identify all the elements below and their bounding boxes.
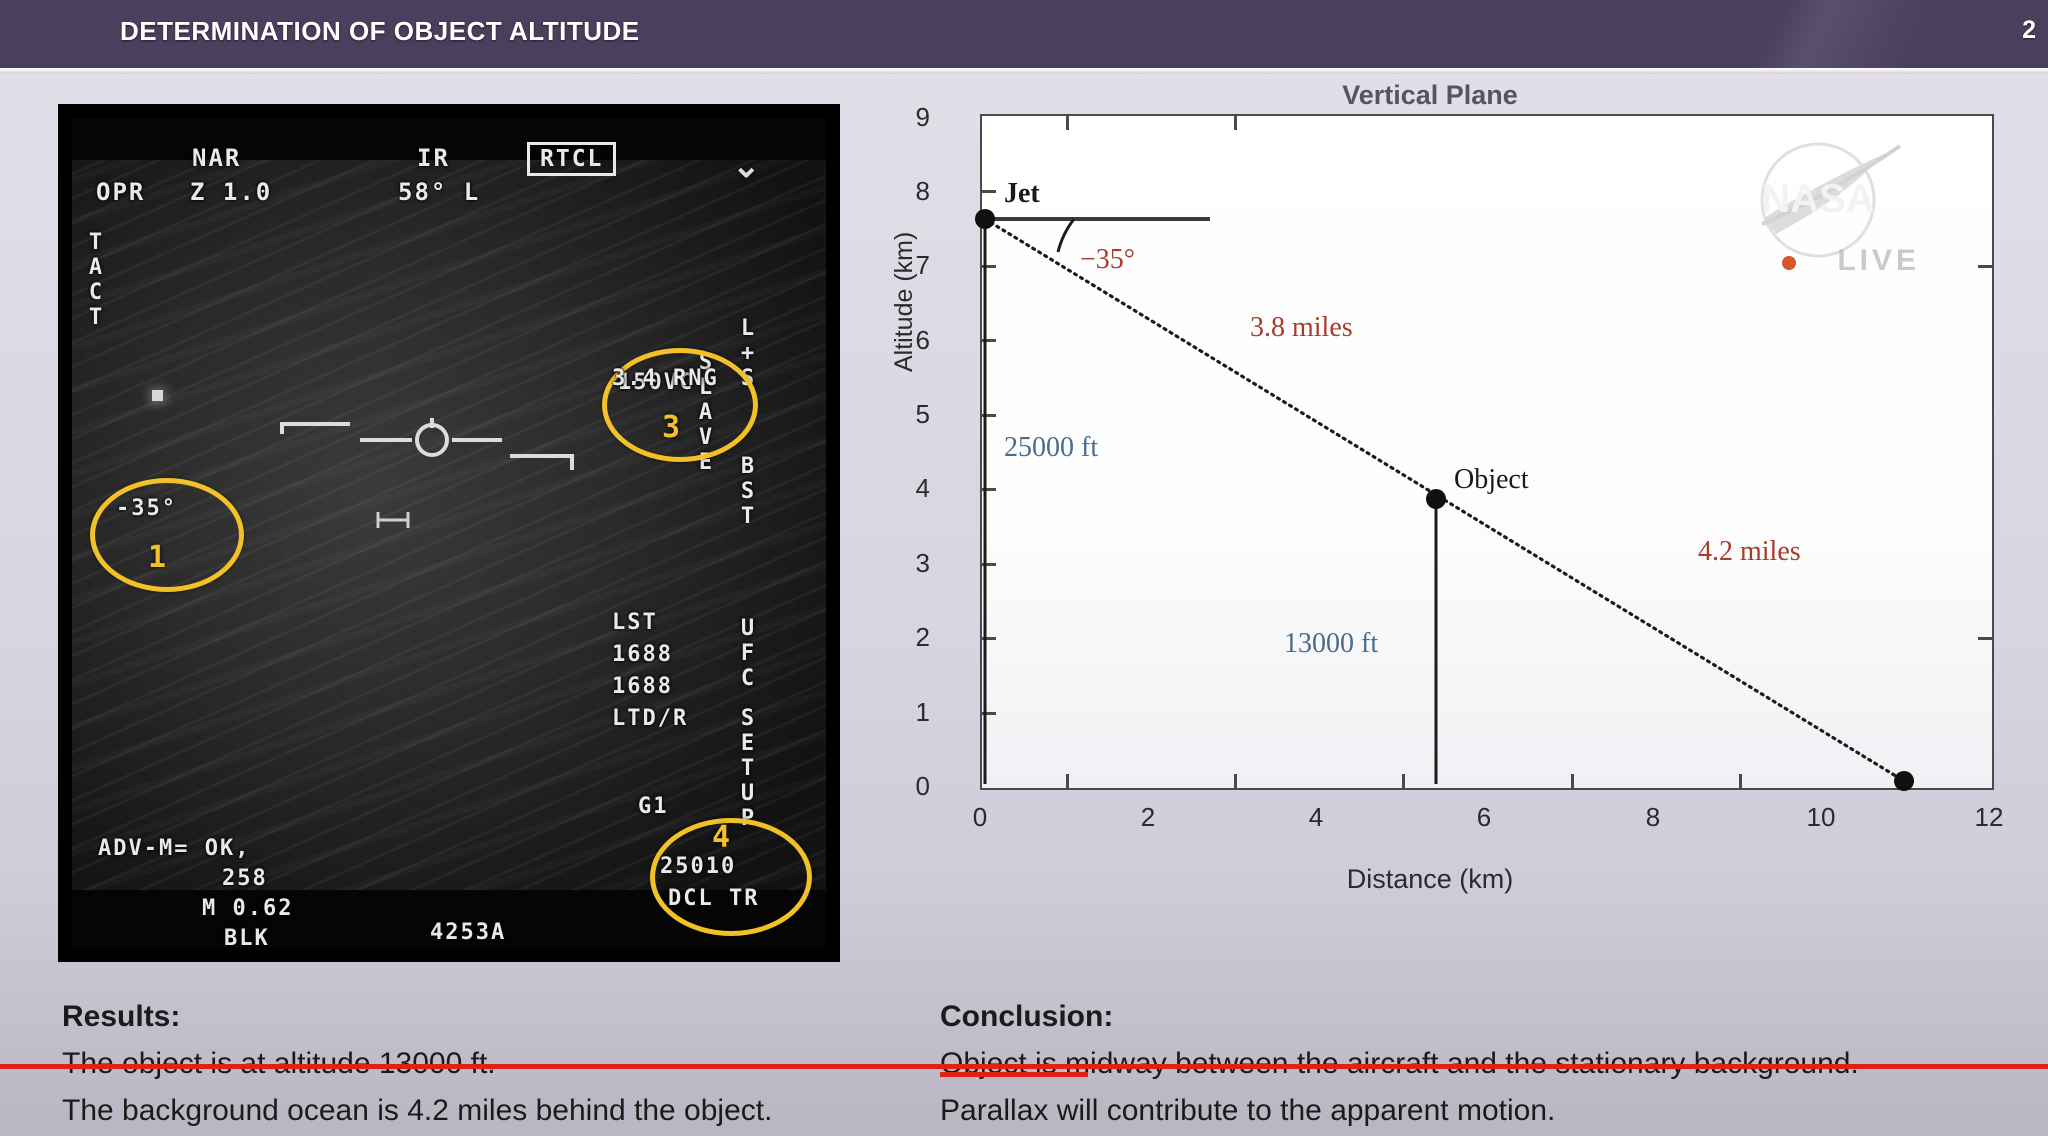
hud-lst: LST [612, 610, 658, 635]
y-axis-label: Altitude (km) [890, 232, 919, 372]
header-sheen [1628, 0, 2048, 68]
point-jet [975, 209, 995, 229]
conclusion-heading: Conclusion: [940, 1000, 1113, 1034]
y-tick-5: 5 [870, 399, 930, 430]
hud-nar: NAR [192, 144, 241, 172]
hud-bst: BST [738, 454, 756, 529]
slide-header: DETERMINATION OF OBJECT ALTITUDE 2 [0, 0, 2048, 68]
progress-underline-accent [940, 1072, 1088, 1077]
point-background [1894, 771, 1914, 791]
ir-video-panel: OPR NAR Z 1.0 IR 58° L RTCL ⌄ TACT L+S S… [58, 104, 840, 962]
results-heading: Results: [62, 1000, 180, 1034]
angle-arc [1058, 219, 1074, 252]
tracking-gate-icon [372, 508, 418, 532]
plot-geometry [982, 116, 1988, 784]
y-tick-9: 9 [870, 102, 930, 133]
hud-blk: BLK [224, 926, 270, 948]
hud-range: 3.4 RNG [612, 366, 719, 391]
x-tick-2: 2 [1118, 802, 1178, 833]
y-tick-1: 1 [870, 697, 930, 728]
progress-underline [0, 1064, 2048, 1069]
annotation-distance-object-background: 4.2 miles [1698, 536, 1801, 568]
hud-fov: 58° L [398, 178, 480, 206]
annotation-distance-jet-object: 3.8 miles [1250, 312, 1353, 344]
hud-ltdr: LTD/R [612, 706, 688, 731]
ir-video-screen: OPR NAR Z 1.0 IR 58° L RTCL ⌄ TACT L+S S… [72, 118, 826, 948]
hud-mach: M 0.62 [202, 896, 293, 921]
y-tick-2: 2 [870, 622, 930, 653]
x-tick-8: 8 [1623, 802, 1683, 833]
target-reticle-icon [272, 398, 592, 518]
chevron-down-icon: ⌄ [732, 146, 761, 186]
hud-lst-value-1: 1688 [612, 642, 673, 667]
hud-sensor-ir: IR [417, 144, 450, 172]
page-number: 2 [2022, 16, 2036, 45]
point-object [1426, 489, 1446, 509]
slide-root: DETERMINATION OF OBJECT ALTITUDE 2 OPR N… [0, 0, 2048, 1136]
x-tick-12: 12 [1959, 802, 2019, 833]
hud-dcl-tr: DCL TR [668, 886, 759, 911]
chart-title: Vertical Plane [880, 80, 1980, 111]
x-axis-label: Distance (km) [880, 864, 1980, 895]
hud-alt-25010: 25010 [660, 854, 736, 879]
y-tick-3: 3 [870, 548, 930, 579]
annotation-number-3: 3 [662, 410, 680, 445]
hud-zoom: Z 1.0 [190, 178, 272, 206]
hud-code: 4253A [430, 920, 506, 945]
hud-lst-value-2: 1688 [612, 674, 673, 699]
results-line-2: The background ocean is 4.2 miles behind… [62, 1094, 772, 1128]
y-tick-4: 4 [870, 473, 930, 504]
hud-g1: G1 [638, 794, 669, 819]
y-tick-8: 8 [870, 176, 930, 207]
x-tick-4: 4 [1286, 802, 1346, 833]
hud-tact: TACT [86, 230, 104, 330]
annotation-angle: −35° [1080, 244, 1135, 276]
hud-angle-minus35: -35° [116, 496, 177, 521]
annotation-number-1: 1 [148, 540, 166, 575]
y-tick-0: 0 [870, 771, 930, 802]
annotation-number-4: 4 [712, 820, 730, 855]
x-tick-10: 10 [1791, 802, 1851, 833]
annotation-jet-altitude: 25000 ft [1004, 432, 1098, 464]
hud-adv: ADV-M= OK, [98, 836, 250, 861]
hud-opr: OPR [96, 178, 145, 206]
label-jet: Jet [1004, 178, 1040, 210]
x-tick-6: 6 [1454, 802, 1514, 833]
conclusion-line-2: Parallax will contribute to the apparent… [940, 1094, 1555, 1128]
label-object: Object [1454, 464, 1529, 496]
ir-blip [152, 390, 163, 401]
x-tick-0: 0 [950, 802, 1010, 833]
plot-area: NASA LIVE [980, 114, 1994, 790]
hud-ufc: UFC [738, 616, 756, 691]
vertical-plane-chart: Vertical Plane 9 8 7 6 5 4 3 2 1 0 Altit… [880, 72, 2048, 962]
annotation-object-altitude: 13000 ft [1284, 628, 1378, 660]
hud-heading: 258 [222, 866, 268, 891]
page-title: DETERMINATION OF OBJECT ALTITUDE [120, 16, 640, 47]
hud-rtcl-box: RTCL [527, 142, 616, 176]
hud-setup: SETUP [738, 706, 756, 831]
